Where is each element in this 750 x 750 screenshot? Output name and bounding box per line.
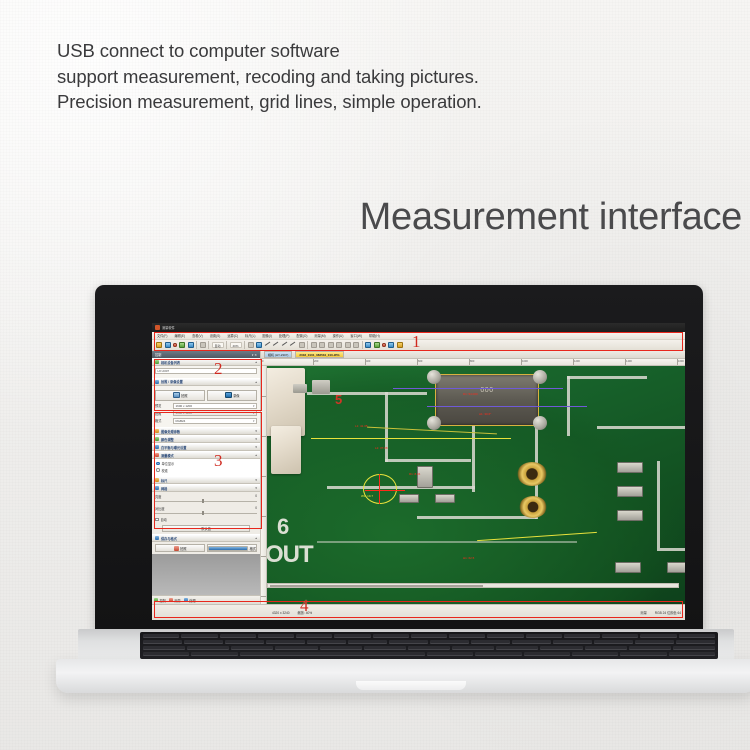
menu-item-operate[interactable]: 操作(U) xyxy=(333,333,344,338)
save-format-icon xyxy=(155,536,159,540)
ruler-label-1: 200 xyxy=(313,360,318,363)
slider-contrast-label: 对比度 xyxy=(155,506,165,511)
laptop-base xyxy=(56,629,750,703)
sidebar-header: 控制 ▾ ✕ xyxy=(152,351,260,358)
preview-res-text: 1600 x 1200 xyxy=(176,404,193,408)
menu-item-edit[interactable]: 编辑(E) xyxy=(174,333,185,338)
ruler-label-5: 1000 xyxy=(521,360,528,363)
menu-item-calc[interactable]: 运算(C) xyxy=(227,333,238,338)
panel-title-device-list: 相机设备列表 xyxy=(161,360,180,365)
record-button[interactable]: 录像 xyxy=(207,390,257,401)
sidebar-tab-process[interactable]: 处理 xyxy=(184,598,196,603)
rect-tool-icon[interactable] xyxy=(311,342,317,348)
print-icon[interactable] xyxy=(188,342,194,348)
measure-label-5: R1: 8.24 xyxy=(409,472,420,476)
slider-brightness-label: 亮度 xyxy=(155,494,161,499)
video-record-icon xyxy=(225,392,232,398)
chevron-right-icon-color[interactable]: ▾ xyxy=(255,437,257,441)
annotation-number-5: 5 xyxy=(335,392,342,407)
measure-line-3 xyxy=(393,388,563,389)
chevron-right-icon-image-params[interactable]: ▾ xyxy=(255,429,257,433)
panel-header-save-format[interactable]: 保存与格式 ▴ xyxy=(152,534,260,542)
default-button-label: 默认值 xyxy=(201,526,211,531)
measure-mode-icon xyxy=(155,453,159,457)
save-format-buttons: 拍照 格式 xyxy=(152,542,260,554)
ruler-label-2: 400 xyxy=(365,360,370,363)
new-file-icon[interactable] xyxy=(156,342,162,348)
panel-title-color: 颜色调整 xyxy=(161,437,174,442)
toolbar-separator-5 xyxy=(307,341,308,349)
panel-title-whitebalance: 白平衡与曝光设置 xyxy=(161,445,187,450)
slider-brightness-value: 0 xyxy=(255,494,257,499)
measure-line-5 xyxy=(365,490,405,491)
device-select-row[interactable]: HY-2307 xyxy=(155,368,257,374)
pcb-image-canvas[interactable]: 000 6 xyxy=(267,366,685,604)
auto-checkbox-row[interactable]: 自动 xyxy=(152,516,260,523)
image-params-icon xyxy=(155,429,159,433)
slider-contrast-knob[interactable] xyxy=(202,511,204,515)
headline-line-2: support measurement, recoding and taking… xyxy=(57,64,657,90)
panel-title-capture: 拍照 / 录像设置 xyxy=(161,379,183,384)
format-button[interactable]: 格式 xyxy=(207,544,257,552)
radius-tool-icon[interactable] xyxy=(345,342,351,348)
panel-header-ruler[interactable]: 标尺 ▾ xyxy=(152,476,260,484)
panel-body-capture: 拍照 录像 预览 16 xyxy=(152,386,260,428)
menu-item-window[interactable]: 窗口(W) xyxy=(350,333,362,338)
toolbar-separator-3 xyxy=(226,341,227,349)
measure-line-6 xyxy=(379,474,380,504)
annotation-number-4: 4 xyxy=(300,596,309,616)
annotation-number-2: 2 xyxy=(214,359,223,379)
menu-item-view[interactable]: 查看(V) xyxy=(192,333,203,338)
photo-res-row[interactable]: 拍照 1600 x 1200 ▾ xyxy=(155,410,257,416)
radio-row-unit-display[interactable]: 单位显示 xyxy=(156,461,256,466)
panel-header-grid[interactable]: 网格 ▾ xyxy=(152,484,260,492)
export-icon[interactable] xyxy=(388,342,394,348)
slider-contrast-value: 0 xyxy=(255,506,257,511)
file-tab-camera[interactable]: 相机 (HY-2307) xyxy=(264,351,292,358)
chevron-right-icon-wb[interactable]: ▾ xyxy=(255,445,257,449)
toolbar-separator-6 xyxy=(362,341,363,349)
capture-buttons: 拍照 录像 xyxy=(155,390,257,401)
measure-label-2: L2: 37.08 xyxy=(375,446,388,450)
control-sidebar: 控制 ▾ ✕ 相机设备列表 ▴ HY-2307 xyxy=(152,351,261,604)
measure-label-1: L1: 41.35 xyxy=(355,424,368,428)
auto-checkbox[interactable] xyxy=(155,518,159,522)
slider-brightness-top: 亮度 0 xyxy=(155,494,257,499)
file-tabstrip: 相机 (HY-2307) 2018_0101_083534_010.JPG xyxy=(261,351,685,359)
auto-checkbox-label: 自动 xyxy=(161,517,167,522)
grid-lines-icon xyxy=(155,486,159,490)
point-tool-icon[interactable] xyxy=(299,342,305,348)
panel-title-measure-mode: 测量模式 xyxy=(161,453,174,458)
toolbar-size-label[interactable]: 自动 xyxy=(212,342,224,348)
canvas-wrapper: 000 6 xyxy=(261,366,685,604)
panel-title-grid: 网格 xyxy=(161,486,167,491)
panel-header-color[interactable]: 颜色调整 ▾ xyxy=(152,435,260,443)
laptop-base-top xyxy=(78,629,734,663)
menu-item-help[interactable]: 帮助(H) xyxy=(369,333,380,338)
photo-res-text: 1600 x 1200 xyxy=(176,411,193,415)
toolbar-separator-2 xyxy=(208,341,209,349)
section-title: Measurement interface xyxy=(360,196,742,239)
measure-label-4: A1: 30.6° xyxy=(479,412,491,416)
gold-via-1 xyxy=(517,462,547,486)
ruler-label-0: 0 xyxy=(261,360,263,363)
record-button-label: 录像 xyxy=(233,393,239,398)
sidebar-tab-control[interactable]: 控制 xyxy=(154,598,166,603)
laptop-screen: 测量软件 文件(F) 编辑(E) 查看(V) 设置(S) 运算(C) 标尺(L)… xyxy=(152,323,685,620)
slider-brightness[interactable]: 亮度 0 xyxy=(152,492,260,504)
laptop-keyboard[interactable] xyxy=(140,632,718,659)
ruler-label-6: 1200 xyxy=(573,360,580,363)
radio-row-calibrate[interactable]: 校准 xyxy=(156,468,256,473)
measure-line-1 xyxy=(311,438,511,439)
sidebar-tab-control-label: 控制 xyxy=(160,598,166,603)
white-balance-icon xyxy=(155,445,159,449)
ruler-label-4: 800 xyxy=(469,360,474,363)
chevron-down-icon-save[interactable]: ▴ xyxy=(255,536,257,540)
sidebar-filler xyxy=(152,554,260,595)
laptop-front-notch xyxy=(356,681,466,690)
line-tool-icon[interactable] xyxy=(265,342,271,348)
snapshot-icon xyxy=(174,546,179,551)
status-info: RGB 24 位颜色 64 xyxy=(655,610,681,615)
chevron-right-icon-ruler[interactable]: ▾ xyxy=(255,478,257,482)
snapshot-button[interactable]: 拍照 xyxy=(155,544,205,552)
annotation-number-3: 3 xyxy=(214,451,223,471)
preview-res-label: 预览 xyxy=(155,403,171,408)
toolbar-separator-1 xyxy=(196,341,197,349)
menu-item-config[interactable]: 配置(O) xyxy=(296,333,307,338)
gold-via-2 xyxy=(519,496,547,518)
color-icon xyxy=(155,437,159,441)
page-root: USB connect to computer software support… xyxy=(0,0,750,750)
square-tool-icon[interactable] xyxy=(319,342,325,348)
save-icon[interactable] xyxy=(165,342,171,348)
laptop-lid: 测量软件 文件(F) 编辑(E) 查看(V) 设置(S) 运算(C) 标尺(L)… xyxy=(95,285,703,633)
sidebar-tab-process-label: 处理 xyxy=(189,598,195,603)
panel-title-ruler: 标尺 xyxy=(161,478,167,483)
format-row[interactable]: 格式 RGB24 ▾ xyxy=(155,418,257,424)
device-select-value[interactable]: HY-2307 xyxy=(155,368,257,374)
preview-res-value[interactable]: 1600 x 1200 ▾ xyxy=(173,403,257,409)
format-text: RGB24 xyxy=(176,419,186,423)
headline-line-3: Precision measurement, grid lines, simpl… xyxy=(57,89,657,115)
toolbar-separator-4 xyxy=(244,341,245,349)
app-statusbar: 4320 x 3240 缩放: 40% 测量 RGB 24 位颜色 64 xyxy=(152,604,685,620)
format-settings-icon xyxy=(208,546,248,551)
radio-calibrate-label: 校准 xyxy=(162,468,168,473)
menu-item-ruler[interactable]: 标尺(L) xyxy=(245,333,255,338)
crosshair-icon[interactable] xyxy=(374,342,380,348)
sidebar-tab-measure-label: 测量 xyxy=(174,598,180,603)
menu-item-measure[interactable]: 测量(M) xyxy=(314,333,325,338)
panel-header-whitebalance[interactable]: 白平衡与曝光设置 ▾ xyxy=(152,443,260,451)
measure-label-3: D1: 54.000 xyxy=(463,392,478,396)
headline-block: USB connect to computer software support… xyxy=(57,38,657,115)
measure-mode-options: 单位显示 校准 xyxy=(152,459,260,476)
control-tab-icon xyxy=(154,598,158,602)
horizontal-ruler[interactable]: 0 200 400 600 800 1000 1200 1400 1600 xyxy=(261,359,685,366)
slider-brightness-track[interactable] xyxy=(155,500,257,503)
measure-line-4 xyxy=(427,406,587,407)
crystal-oscillator: 000 xyxy=(435,374,539,426)
measure-tab-icon xyxy=(169,598,173,602)
capture-icon xyxy=(155,380,159,384)
default-button[interactable]: 默认值 xyxy=(162,525,250,532)
horizontal-scrollbar[interactable] xyxy=(267,583,679,588)
slider-contrast-top: 对比度 0 xyxy=(155,506,257,511)
panel-body-device-list: HY-2307 xyxy=(152,366,260,378)
ellipse-tool-icon[interactable] xyxy=(336,342,342,348)
chevron-down-icon-preview[interactable]: ▾ xyxy=(253,404,255,408)
measure-label-6: W1: 19.7 xyxy=(361,494,373,498)
measure-circle-1 xyxy=(363,474,397,504)
diameter-tool-icon[interactable] xyxy=(353,342,359,348)
radio-calibrate-icon[interactable] xyxy=(156,468,160,472)
calibrate-icon[interactable] xyxy=(382,343,386,347)
toolbar-zoom-label[interactable]: 40% xyxy=(230,342,242,348)
annotation-number-1: 1 xyxy=(412,332,421,352)
ruler-icon xyxy=(155,478,159,482)
horizontal-scrollbar-thumb[interactable] xyxy=(270,585,483,587)
chevron-down-icon-measure[interactable]: ▴ xyxy=(255,453,257,457)
panel-header-device-list[interactable]: 相机设备列表 ▴ xyxy=(152,358,260,366)
chevron-down-icon-capture[interactable]: ▴ xyxy=(255,380,257,384)
slider-contrast-track[interactable] xyxy=(155,512,257,515)
app-workarea: 控制 ▾ ✕ 相机设备列表 ▴ HY-2307 xyxy=(152,351,685,604)
chevron-down-icon[interactable]: ▴ xyxy=(255,360,257,364)
silk-label-out: OUT xyxy=(267,541,313,569)
process-tab-icon xyxy=(184,598,188,602)
format-label: 格式 xyxy=(155,418,171,423)
chevron-right-icon-grid[interactable]: ▾ xyxy=(255,486,257,490)
menu-item-process[interactable]: 处理(P) xyxy=(279,333,290,338)
panel-title-save-format: 保存与格式 xyxy=(161,536,177,541)
status-mode: 测量 xyxy=(640,610,646,615)
sidebar-tabs: 控制 测量 处理 xyxy=(152,595,260,604)
refresh-icon[interactable] xyxy=(179,342,185,348)
pcb-connector-lower xyxy=(271,426,301,474)
snapshot-button-label: 拍照 xyxy=(180,546,186,551)
sidebar-pin-icon[interactable]: ▾ ✕ xyxy=(252,353,257,357)
chevron-down-icon-format[interactable]: ▾ xyxy=(253,419,255,423)
measurement-app-window: 测量软件 文件(F) 编辑(E) 查看(V) 设置(S) 运算(C) 标尺(L)… xyxy=(152,323,685,620)
settings-gear-icon[interactable] xyxy=(397,342,403,348)
measure-label-7: H1: 62.5 xyxy=(463,556,474,560)
app-titlebar: 测量软件 xyxy=(152,323,685,332)
sidebar-header-label: 控制 xyxy=(155,352,161,357)
image-viewer: 相机 (HY-2307) 2018_0101_083534_010.JPG 0 … xyxy=(261,351,685,604)
status-dimensions: 4320 x 3240 xyxy=(272,611,290,615)
polyline-tool-icon[interactable] xyxy=(273,342,279,348)
radio-unit-display-label: 单位显示 xyxy=(162,461,175,466)
file-tab-image[interactable]: 2018_0101_083534_010.JPG xyxy=(295,351,343,358)
panel-header-image-params[interactable]: 图像处理参数 ▾ xyxy=(152,427,260,435)
circle-tool-icon[interactable] xyxy=(328,342,334,348)
ruler-label-7: 1400 xyxy=(625,360,632,363)
format-button-label: 格式 xyxy=(250,546,256,551)
menu-item-file[interactable]: 文件(F) xyxy=(157,333,167,338)
silk-label-6: 6 xyxy=(277,514,289,540)
ruler-label-3: 600 xyxy=(417,360,422,363)
photo-res-value[interactable]: 1600 x 1200 ▾ xyxy=(173,410,257,416)
chevron-down-icon-photo[interactable]: ▾ xyxy=(253,411,255,415)
app-logo-icon xyxy=(155,325,160,330)
preview-res-row[interactable]: 预览 1600 x 1200 ▾ xyxy=(155,403,257,409)
arc-tool-icon[interactable] xyxy=(290,342,296,348)
magnet-icon[interactable] xyxy=(248,342,254,348)
slider-brightness-knob[interactable] xyxy=(202,499,204,503)
app-window-title: 测量软件 xyxy=(162,325,175,330)
open-icon[interactable] xyxy=(173,343,177,347)
panel-header-capture[interactable]: 拍照 / 录像设置 ▴ xyxy=(152,378,260,386)
panel-header-measure-mode[interactable]: 测量模式 ▴ xyxy=(152,451,260,459)
ruler-label-8: 1600 xyxy=(677,360,684,363)
laptop-mockup: 测量软件 文件(F) 编辑(E) 查看(V) 设置(S) 运算(C) 标尺(L)… xyxy=(56,285,750,705)
menu-item-image[interactable]: 图像(I) xyxy=(262,333,271,338)
text-tool-icon[interactable] xyxy=(365,342,371,348)
select-tool-icon[interactable] xyxy=(256,342,262,348)
photo-res-label: 拍照 xyxy=(155,411,171,416)
menu-item-settings[interactable]: 设置(S) xyxy=(210,333,221,338)
photo-button-label: 拍照 xyxy=(181,393,187,398)
angle-tool-icon[interactable] xyxy=(282,342,288,348)
radio-unit-display-icon[interactable] xyxy=(156,462,160,466)
format-value[interactable]: RGB24 ▾ xyxy=(173,418,257,424)
slider-contrast[interactable]: 对比度 0 xyxy=(152,504,260,516)
headline-line-1: USB connect to computer software xyxy=(57,38,657,64)
panel-title-image-params: 图像处理参数 xyxy=(161,429,180,434)
camera-icon xyxy=(155,360,159,364)
photo-button[interactable]: 拍照 xyxy=(155,390,205,401)
sidebar-tab-measure[interactable]: 测量 xyxy=(169,598,181,603)
grid-icon[interactable] xyxy=(200,342,206,348)
photo-camera-icon xyxy=(173,392,180,398)
